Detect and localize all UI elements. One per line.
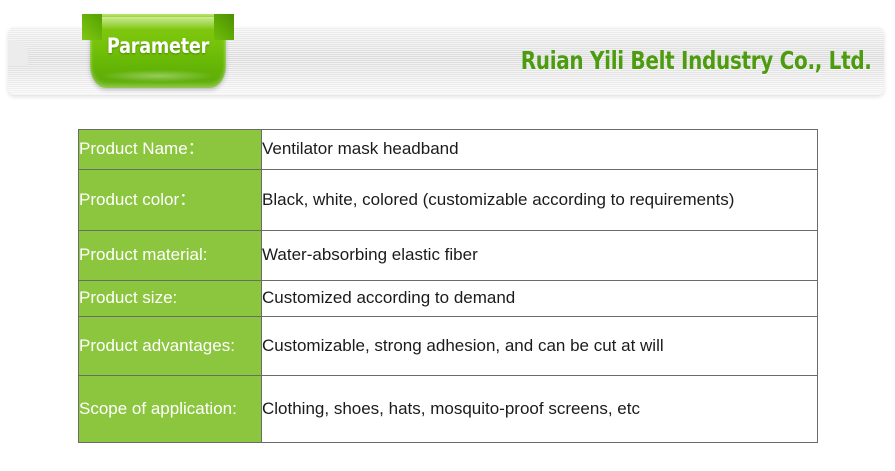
product-parameter-table: Product Name： Ventilator mask headband P…	[78, 129, 818, 443]
page-header-banner: Parameter Ruian Yili Belt Industry Co., …	[8, 27, 884, 95]
table-row: Product material: Water-absorbing elasti…	[79, 231, 818, 281]
row-label: Product advantages:	[79, 317, 262, 376]
row-value: Customized according to demand	[262, 281, 818, 317]
parameter-tab: Parameter	[80, 14, 236, 88]
table-row: Product size: Customized according to de…	[79, 281, 818, 317]
row-label: Product material:	[79, 231, 262, 281]
row-value: Ventilator mask headband	[262, 130, 818, 170]
row-label: Product Name：	[79, 130, 262, 170]
row-value: Customizable, strong adhesion, and can b…	[262, 317, 818, 376]
company-name: Ruian Yili Belt Industry Co., Ltd.	[521, 46, 872, 75]
row-label: Product color：	[79, 170, 262, 231]
tab-gloss-highlight	[96, 17, 220, 29]
table-row: Product advantages: Customizable, strong…	[79, 317, 818, 376]
tab-title: Parameter	[92, 34, 223, 58]
row-value: Black, white, colored (customizable acco…	[262, 170, 818, 231]
row-value: Water-absorbing elastic fiber	[262, 231, 818, 281]
row-label: Scope of application:	[79, 376, 262, 443]
table-row: Product Name： Ventilator mask headband	[79, 130, 818, 170]
row-value: Clothing, shoes, hats, mosquito-proof sc…	[262, 376, 818, 443]
table-row: Product color： Black, white, colored (cu…	[79, 170, 818, 231]
tab-bottom-highlight	[102, 70, 214, 82]
row-label: Product size:	[79, 281, 262, 317]
table-row: Scope of application: Clothing, shoes, h…	[79, 376, 818, 443]
